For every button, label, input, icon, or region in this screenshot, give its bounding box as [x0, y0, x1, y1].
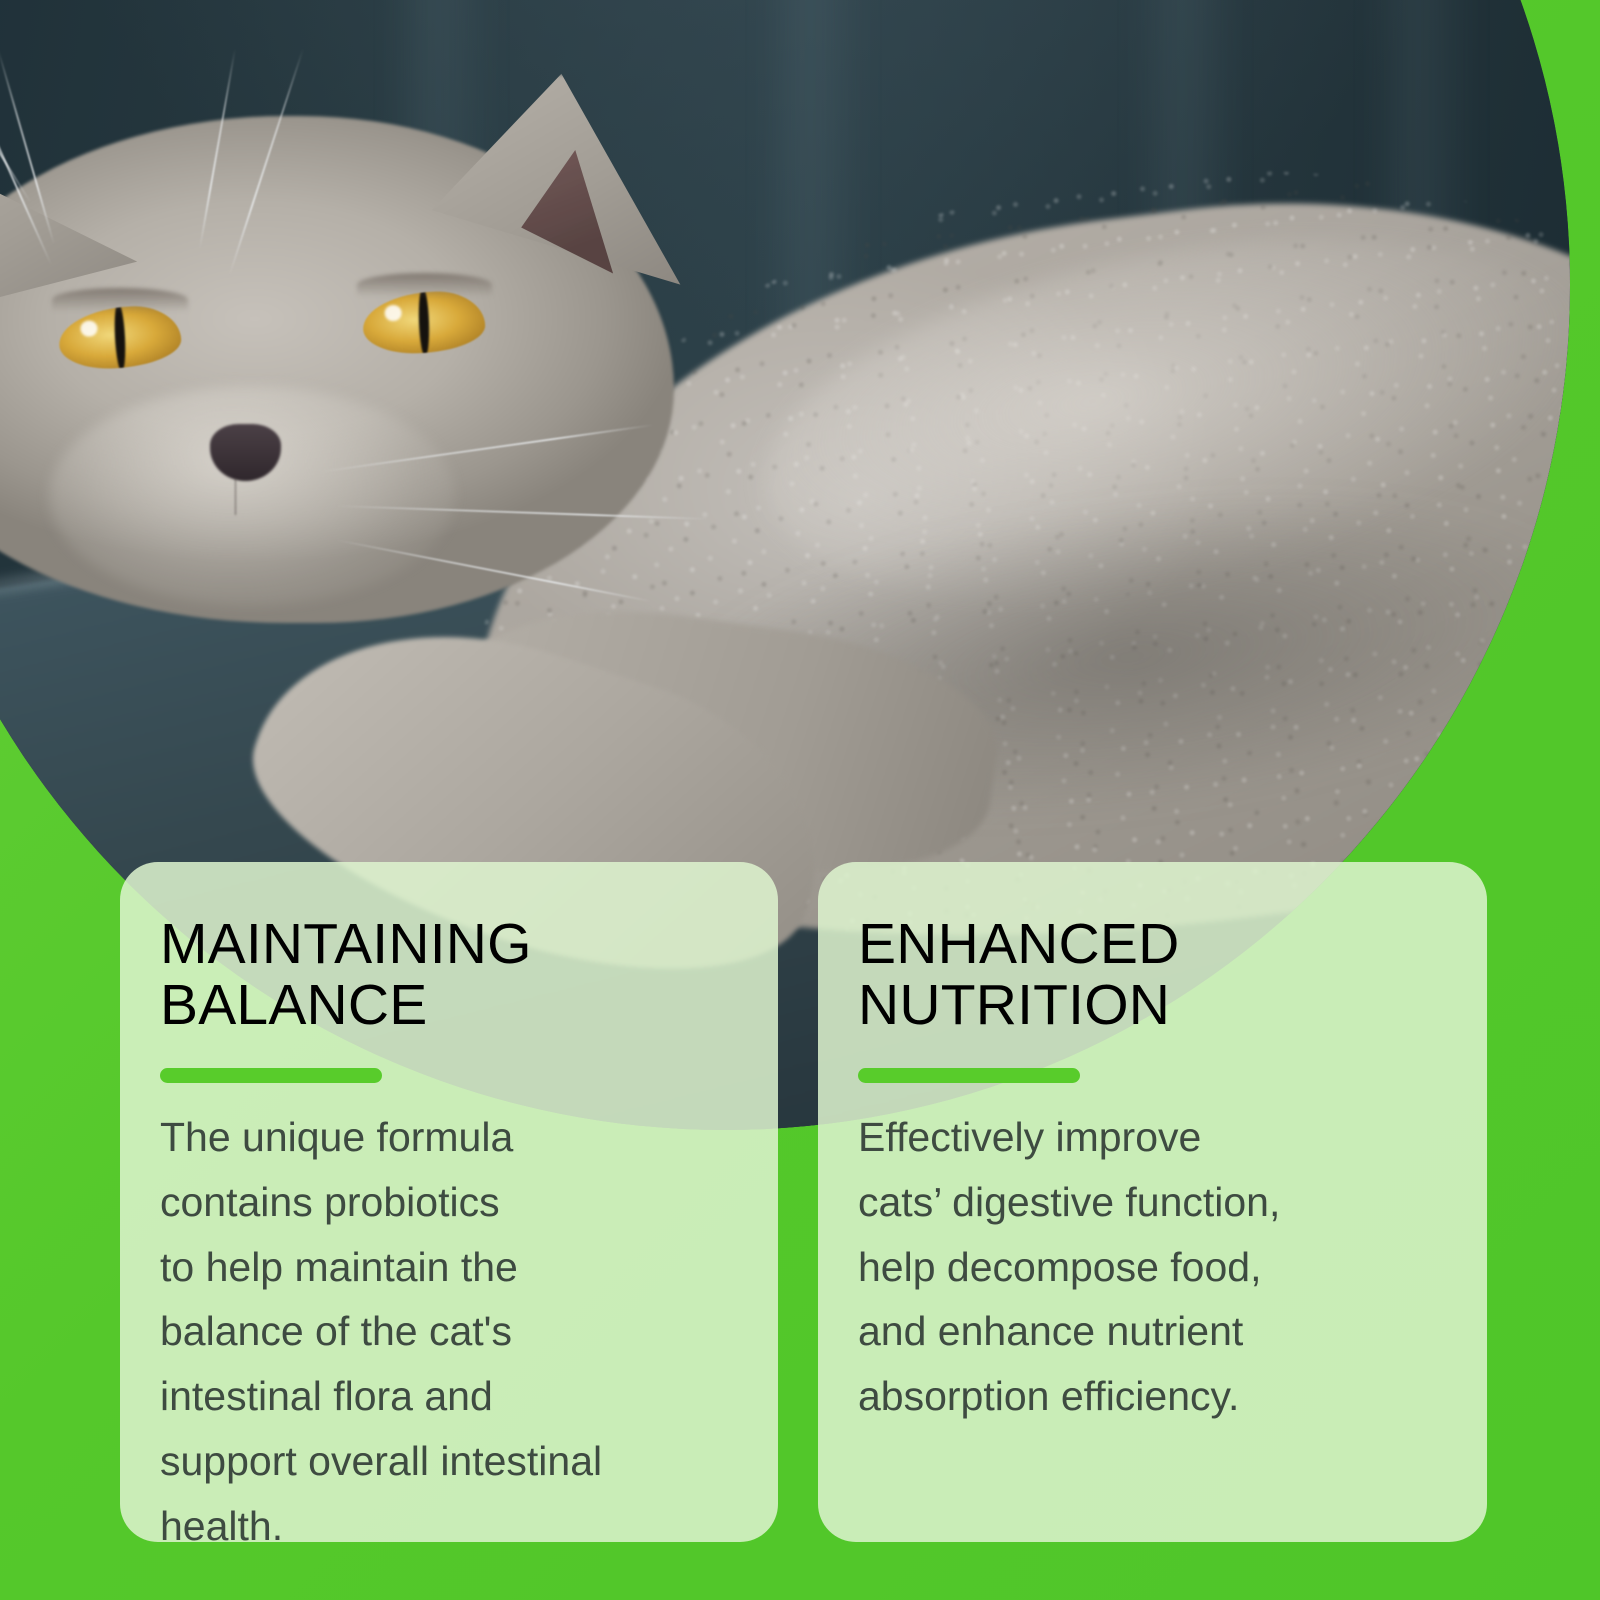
cat-eye-glint-right — [385, 305, 403, 321]
feature-card-maintaining-balance: MAINTAINING BALANCE The unique formula c… — [120, 862, 778, 1542]
feature-card-title: MAINTAINING BALANCE — [160, 914, 738, 1036]
cat-pupil-left — [113, 304, 126, 371]
cat-pupil-right — [418, 290, 430, 355]
feature-card-body: The unique formula contains probiotics t… — [160, 1105, 738, 1558]
feature-card-title: ENHANCED NUTRITION — [858, 914, 1447, 1036]
cat-eyelid-left — [52, 288, 187, 312]
feature-card-divider — [858, 1068, 1080, 1083]
cat-eye-glint-left — [80, 320, 98, 337]
feature-card-body: Effectively improve cats’ digestive func… — [858, 1105, 1447, 1429]
cat-muzzle — [49, 386, 455, 606]
cat-eyelid-right — [357, 273, 492, 297]
cat-mouth — [235, 478, 237, 515]
product-feature-poster: MAINTAINING BALANCE The unique formula c… — [0, 0, 1600, 1600]
feature-card-enhanced-nutrition: ENHANCED NUTRITION Effectively improve c… — [818, 862, 1487, 1542]
feature-card-divider — [160, 1068, 382, 1083]
